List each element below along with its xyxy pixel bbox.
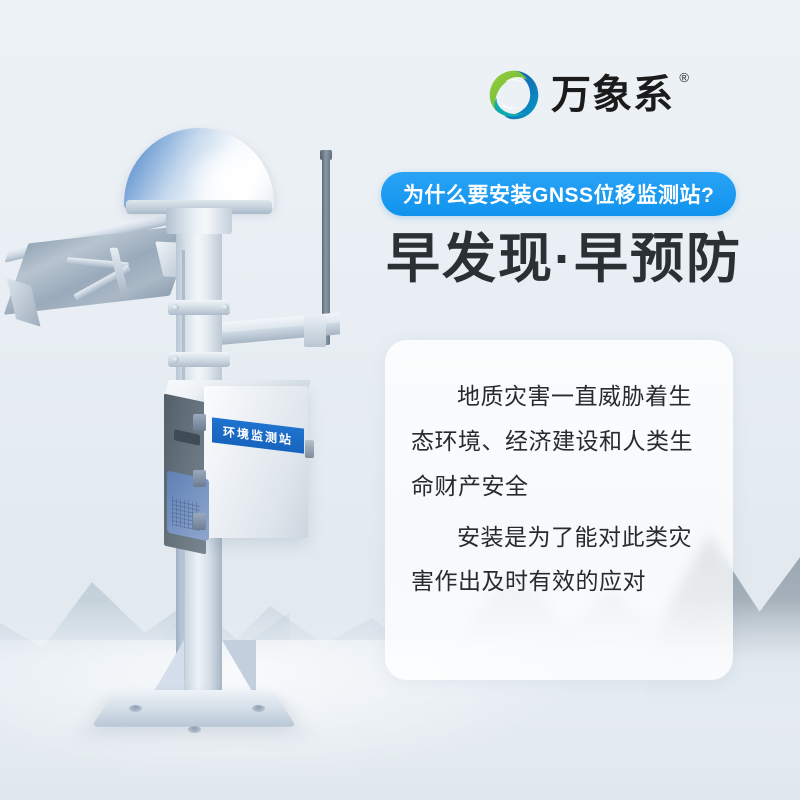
cross-arm-end-foot xyxy=(304,315,326,347)
gnss-antenna-dome xyxy=(124,128,274,210)
registered-trademark-icon: ® xyxy=(679,71,690,84)
page-title: 早发现·早预防 xyxy=(386,230,742,289)
globe-swirl-icon xyxy=(487,68,541,122)
brand-name-text: 万象系 xyxy=(551,73,674,117)
enclosure-name-plate-text: 环境监测站 xyxy=(223,423,293,449)
brand-logo: 万象系 ® xyxy=(487,68,674,122)
question-badge-text: 为什么要安装GNSS位移监测站? xyxy=(403,179,714,209)
description-paragraph-2: 安装是为了能对此类灾害作出及时有效的应对 xyxy=(411,515,707,605)
poster-root: 环境监测站 xyxy=(0,0,800,800)
question-badge: 为什么要安装GNSS位移监测站? xyxy=(381,172,736,216)
base-bolt-hole-left xyxy=(129,705,142,712)
enclosure-hinge-lower xyxy=(193,513,206,530)
base-bolt-hole-front xyxy=(188,726,201,733)
description-card: 地质灾害一直威胁着生态环境、经济建设和人类生命财产安全 安装是为了能对此类灾害作… xyxy=(385,340,733,680)
enclosure-hinge-mid xyxy=(193,470,206,487)
pole-clamp-bolt-upper-2 xyxy=(222,304,229,311)
pole-clamp-bolt-lower xyxy=(172,356,179,363)
base-bolt-hole-right xyxy=(252,705,265,712)
enclosure-hinge-upper xyxy=(193,414,206,431)
brand-name: 万象系 ® xyxy=(551,75,674,115)
enclosure-front-face xyxy=(204,386,308,538)
description-paragraph-1: 地质灾害一直威胁着生态环境、经济建设和人类生命财产安全 xyxy=(411,374,707,509)
pole-clamp-bolt-upper xyxy=(172,304,179,311)
gnss-monitoring-station-illustration: 环境监测站 xyxy=(0,0,400,800)
gnss-antenna-neck xyxy=(166,208,232,234)
base-mounting-plate xyxy=(92,690,297,727)
enclosure-latch xyxy=(305,440,314,458)
